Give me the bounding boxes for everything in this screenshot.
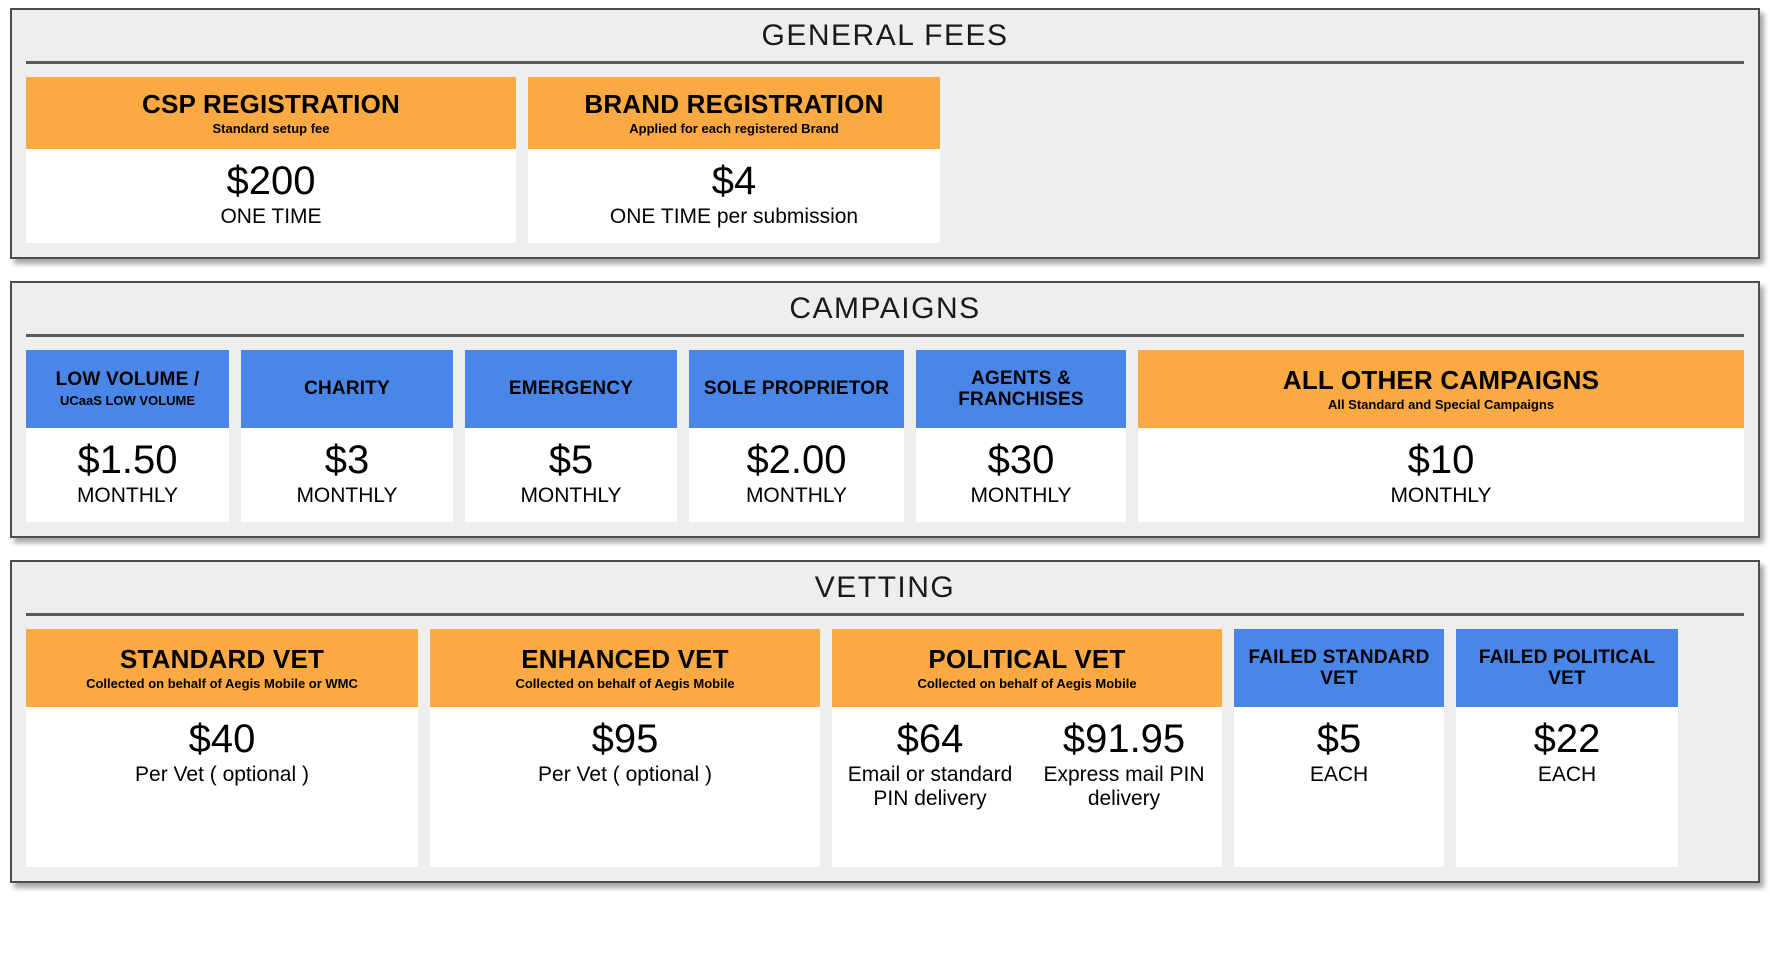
card-failed-political-vet[interactable]: FAILED POLITICAL VET $22 EACH <box>1456 629 1678 867</box>
card-header: FAILED POLITICAL VET <box>1456 629 1678 707</box>
card-low-volume[interactable]: LOW VOLUME / UCaaS LOW VOLUME $1.50 MONT… <box>26 350 229 522</box>
card-title: CHARITY <box>304 379 390 400</box>
card-unit: MONTHLY <box>77 484 178 508</box>
card-unit: Express mail PIN delivery <box>1032 763 1216 811</box>
card-body: $5 EACH <box>1234 707 1444 867</box>
card-body: $3 MONTHLY <box>241 428 453 522</box>
card-all-other-campaigns[interactable]: ALL OTHER CAMPAIGNS All Standard and Spe… <box>1138 350 1744 522</box>
card-body: $5 MONTHLY <box>465 428 677 522</box>
card-price: $1.50 <box>77 440 177 480</box>
card-header: CHARITY <box>241 350 453 428</box>
card-row-vetting: STANDARD VET Collected on behalf of Aegi… <box>26 629 1744 867</box>
card-title: POLITICAL VET <box>928 645 1125 673</box>
card-unit: Per Vet ( optional ) <box>135 763 309 787</box>
section-title-vetting: VETTING <box>26 562 1744 613</box>
card-unit: ONE TIME per submission <box>610 205 858 229</box>
card-csp-registration[interactable]: CSP REGISTRATION Standard setup fee $200… <box>26 77 516 243</box>
card-body: $1.50 MONTHLY <box>26 428 229 522</box>
card-emergency[interactable]: EMERGENCY $5 MONTHLY <box>465 350 677 522</box>
card-header: ENHANCED VET Collected on behalf of Aegi… <box>430 629 820 707</box>
card-price: $5 <box>1317 719 1362 759</box>
card-header: FAILED STANDARD VET <box>1234 629 1444 707</box>
card-subtitle: Collected on behalf of Aegis Mobile <box>917 677 1136 692</box>
card-price: $5 <box>549 440 594 480</box>
card-body: $10 MONTHLY <box>1138 428 1744 522</box>
card-header: SOLE PROPRIETOR <box>689 350 904 428</box>
card-unit: MONTHLY <box>746 484 847 508</box>
card-row-campaigns: LOW VOLUME / UCaaS LOW VOLUME $1.50 MONT… <box>26 350 1744 522</box>
section-divider <box>26 61 1744 64</box>
card-header: ALL OTHER CAMPAIGNS All Standard and Spe… <box>1138 350 1744 428</box>
card-unit: MONTHLY <box>520 484 621 508</box>
card-unit: Email or standard PIN delivery <box>838 763 1022 811</box>
card-title: ALL OTHER CAMPAIGNS <box>1283 366 1599 394</box>
card-title: CSP REGISTRATION <box>142 90 400 118</box>
section-divider <box>26 334 1744 337</box>
card-price: $22 <box>1534 719 1601 759</box>
card-title: FAILED POLITICAL VET <box>1464 648 1670 689</box>
card-header: LOW VOLUME / UCaaS LOW VOLUME <box>26 350 229 428</box>
fee-schedule-page: GENERAL FEES CSP REGISTRATION Standard s… <box>0 0 1770 957</box>
card-unit: MONTHLY <box>970 484 1071 508</box>
card-agents-franchises[interactable]: AGENTS & FRANCHISES $30 MONTHLY <box>916 350 1126 522</box>
card-charity[interactable]: CHARITY $3 MONTHLY <box>241 350 453 522</box>
card-body: $40 Per Vet ( optional ) <box>26 707 418 867</box>
card-price: $2.00 <box>746 440 846 480</box>
section-general-fees: GENERAL FEES CSP REGISTRATION Standard s… <box>10 8 1760 259</box>
card-subtitle: Collected on behalf of Aegis Mobile or W… <box>86 677 358 692</box>
card-title: SOLE PROPRIETOR <box>704 379 889 400</box>
price-column-email: $64 Email or standard PIN delivery <box>838 719 1022 811</box>
card-standard-vet[interactable]: STANDARD VET Collected on behalf of Aegi… <box>26 629 418 867</box>
card-body: $22 EACH <box>1456 707 1678 867</box>
card-price: $95 <box>592 719 659 759</box>
card-subtitle: UCaaS LOW VOLUME <box>60 394 195 409</box>
card-unit: EACH <box>1310 763 1368 787</box>
card-header: EMERGENCY <box>465 350 677 428</box>
card-price: $91.95 <box>1063 719 1185 759</box>
card-unit: Per Vet ( optional ) <box>538 763 712 787</box>
card-header: STANDARD VET Collected on behalf of Aegi… <box>26 629 418 707</box>
card-price: $4 <box>712 161 757 201</box>
card-title: LOW VOLUME / <box>56 370 200 391</box>
section-divider <box>26 613 1744 616</box>
card-subtitle: Applied for each registered Brand <box>629 122 839 137</box>
card-subtitle: Collected on behalf of Aegis Mobile <box>515 677 734 692</box>
card-title: AGENTS & FRANCHISES <box>924 369 1118 410</box>
card-unit: ONE TIME <box>220 205 321 229</box>
price-column-express-mail: $91.95 Express mail PIN delivery <box>1032 719 1216 811</box>
card-unit: MONTHLY <box>1390 484 1491 508</box>
section-campaigns: CAMPAIGNS LOW VOLUME / UCaaS LOW VOLUME … <box>10 281 1760 538</box>
card-brand-registration[interactable]: BRAND REGISTRATION Applied for each regi… <box>528 77 940 243</box>
card-failed-standard-vet[interactable]: FAILED STANDARD VET $5 EACH <box>1234 629 1444 867</box>
card-price: $200 <box>227 161 316 201</box>
card-header: CSP REGISTRATION Standard setup fee <box>26 77 516 149</box>
section-title-general-fees: GENERAL FEES <box>26 10 1744 61</box>
card-price: $3 <box>325 440 370 480</box>
card-price: $40 <box>189 719 256 759</box>
card-body: $30 MONTHLY <box>916 428 1126 522</box>
card-subtitle: All Standard and Special Campaigns <box>1328 398 1554 413</box>
card-price: $10 <box>1408 440 1475 480</box>
section-vetting: VETTING STANDARD VET Collected on behalf… <box>10 560 1760 883</box>
card-header: POLITICAL VET Collected on behalf of Aeg… <box>832 629 1222 707</box>
card-body: $200 ONE TIME <box>26 149 516 243</box>
card-title: BRAND REGISTRATION <box>584 90 883 118</box>
card-price: $30 <box>988 440 1055 480</box>
card-sole-proprietor[interactable]: SOLE PROPRIETOR $2.00 MONTHLY <box>689 350 904 522</box>
card-title: STANDARD VET <box>120 645 324 673</box>
card-unit: MONTHLY <box>296 484 397 508</box>
card-header: BRAND REGISTRATION Applied for each regi… <box>528 77 940 149</box>
card-body: $4 ONE TIME per submission <box>528 149 940 243</box>
card-header: AGENTS & FRANCHISES <box>916 350 1126 428</box>
card-body: $95 Per Vet ( optional ) <box>430 707 820 867</box>
card-price: $64 <box>897 719 964 759</box>
card-title: ENHANCED VET <box>521 645 729 673</box>
card-row-general-fees: CSP REGISTRATION Standard setup fee $200… <box>26 77 1744 243</box>
card-body: $2.00 MONTHLY <box>689 428 904 522</box>
card-political-vet[interactable]: POLITICAL VET Collected on behalf of Aeg… <box>832 629 1222 867</box>
card-unit: EACH <box>1538 763 1596 787</box>
card-enhanced-vet[interactable]: ENHANCED VET Collected on behalf of Aegi… <box>430 629 820 867</box>
card-subtitle: Standard setup fee <box>212 122 329 137</box>
card-title: FAILED STANDARD VET <box>1242 648 1436 689</box>
section-title-campaigns: CAMPAIGNS <box>26 283 1744 334</box>
card-title: EMERGENCY <box>509 379 633 400</box>
card-body: $64 Email or standard PIN delivery $91.9… <box>832 707 1222 867</box>
